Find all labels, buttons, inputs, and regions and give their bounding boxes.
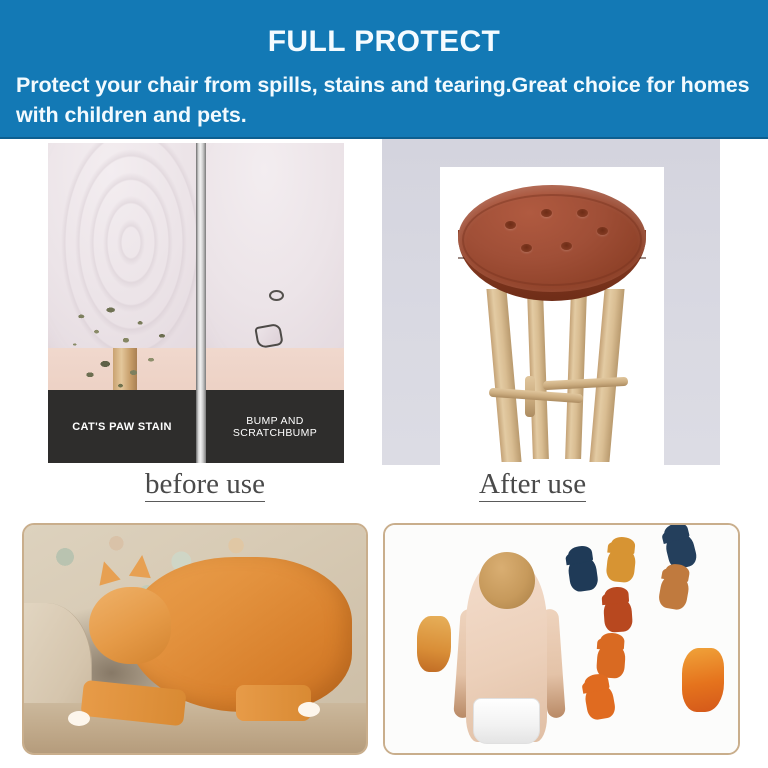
product-banner-page: FULL PROTECT Protect your chair from spi… [0,0,768,768]
caption-label-paw-stain: CAT'S PAW STAIN [72,421,172,433]
handprint [606,546,637,583]
child-handprints-image [383,523,740,755]
caption-label-bump-scratch: BUMP AND SCRATCHBUMP [206,415,344,439]
cat-scratching-image [22,523,368,755]
cushion-rim [462,194,641,286]
stool-leg [565,292,587,459]
child-head [479,552,535,609]
header-banner: FULL PROTECT Protect your chair from spi… [0,0,768,139]
paint-smear [417,616,451,672]
cushion-tuft [561,242,572,250]
stool-leg [589,289,624,462]
cushion-tuft [577,209,588,217]
photo-divider [196,143,206,463]
before-use-label: before use [145,469,265,502]
cat-paw [68,711,90,726]
caption-bar-bump-scratch: BUMP AND SCRATCHBUMP [206,390,344,463]
cat-ear [129,554,153,578]
before-use-image: CAT'S PAW STAIN BUMP AND SCRATCHBUMP [48,143,344,463]
before-photo-bump-scratch: BUMP AND SCRATCHBUMP [206,143,344,463]
after-use-label: After use [479,469,586,502]
before-photo-paw-stain: CAT'S PAW STAIN [48,143,196,463]
caption-bar-paw-stain: CAT'S PAW STAIN [48,390,196,463]
cushion-tuft [597,227,608,235]
child-diaper [473,698,540,744]
cat-head [89,587,171,665]
cat-paw [298,702,320,717]
page-title: FULL PROTECT [0,27,768,57]
cat-rear-leg [236,685,311,721]
bar-stool [440,167,664,465]
content-area: CAT'S PAW STAIN BUMP AND SCRATCHBUMP [0,139,768,768]
stool-photo [440,167,664,465]
after-use-image [382,139,720,465]
stool-leg [486,289,521,462]
paint-smear [682,648,724,712]
handprint [603,597,633,633]
cushion-tuft [541,209,552,217]
cushion-tuft [505,221,516,229]
header-subtitle: Protect your chair from spills, stains a… [0,71,768,130]
